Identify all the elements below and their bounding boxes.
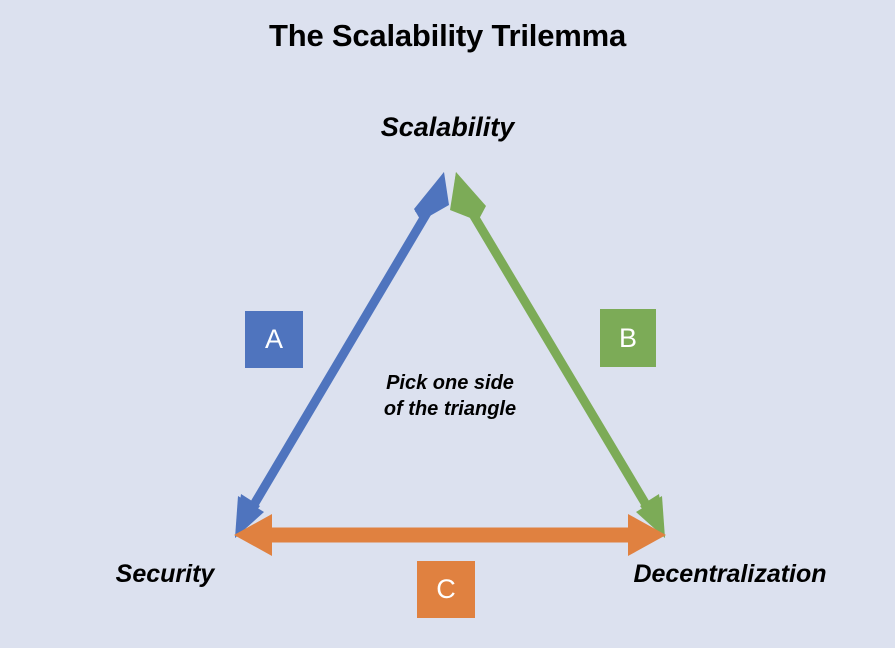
center-note-line-1: Pick one side (386, 372, 514, 394)
arrow-c-orange (234, 514, 666, 556)
edge-badge-b: B (600, 309, 656, 367)
slide-canvas: The Scalability Trilemma Scalability Sec… (0, 0, 895, 648)
vertex-label-security: Security (30, 560, 300, 589)
center-note-line-2: of the triangle (384, 398, 516, 420)
trilemma-diagram (0, 0, 895, 648)
page-title: The Scalability Trilemma (0, 18, 895, 54)
center-note: Pick one sideof the triangle (310, 370, 590, 422)
vertex-label-decentralization: Decentralization (570, 560, 890, 589)
edge-badge-a: A (245, 311, 303, 368)
edge-badge-c: C (417, 561, 475, 618)
vertex-label-scalability: Scalability (0, 112, 895, 143)
